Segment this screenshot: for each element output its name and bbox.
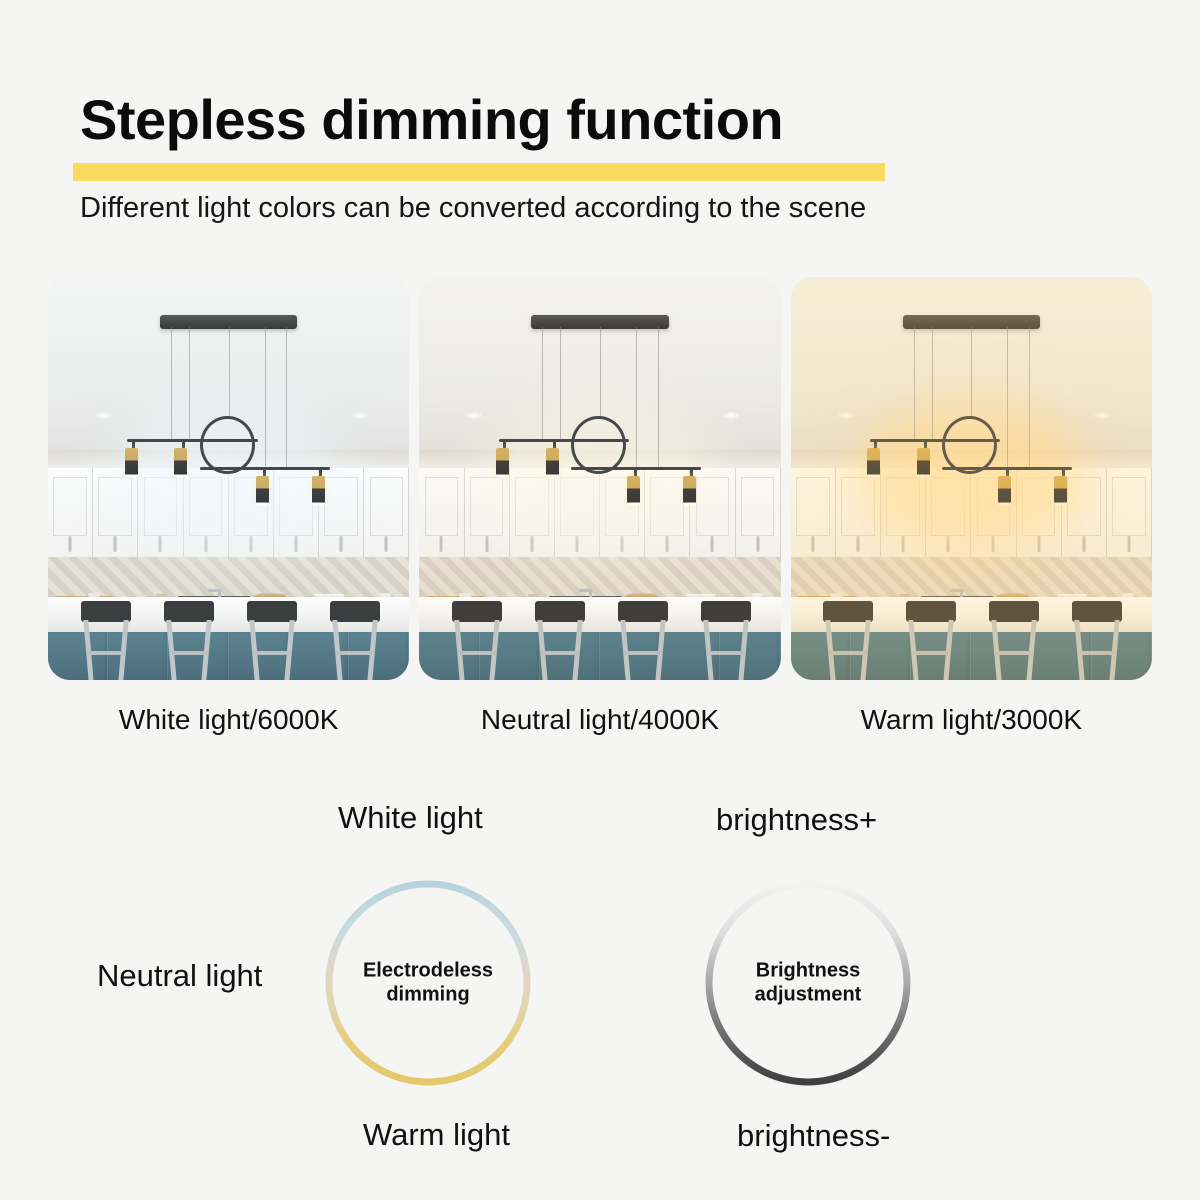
infographic-page: Stepless dimming function Different ligh…	[0, 0, 1200, 1200]
page-subtitle: Different light colors can be converted …	[80, 192, 866, 225]
ring-label-line2: dimming	[386, 983, 469, 1005]
photo-panel-white-light[interactable]	[48, 277, 409, 680]
photo-gallery	[48, 277, 1152, 680]
diagram-label-neutral-light: Neutral light	[97, 958, 262, 994]
diagram-label-warm-light: Warm light	[363, 1117, 510, 1153]
ring-label-line1: Electrodeless	[363, 959, 493, 981]
diagram-label-brightness-plus: brightness+	[716, 802, 877, 838]
brightness-ring-label: Brightness adjustment	[703, 959, 913, 1006]
caption-white-light: White light/6000K	[48, 700, 409, 744]
caption-warm-light: Warm light/3000K	[791, 700, 1152, 744]
ring-label-line2: adjustment	[755, 983, 862, 1005]
color-temperature-tint	[48, 277, 409, 680]
color-temperature-tint	[791, 277, 1152, 680]
ring-label-line1: Brightness	[756, 959, 860, 981]
title-underline-bar	[73, 163, 885, 181]
color-temperature-tint	[419, 277, 780, 680]
photo-panel-warm-light[interactable]	[791, 277, 1152, 680]
gallery-captions: White light/6000K Neutral light/4000K Wa…	[48, 700, 1152, 744]
feature-diagrams: White light Neutral light Warm light	[0, 780, 1200, 1190]
color-temperature-ring[interactable]: Electrodeless dimming	[323, 878, 533, 1088]
brightness-ring[interactable]: Brightness adjustment	[703, 878, 913, 1088]
photo-panel-neutral-light[interactable]	[419, 277, 780, 680]
page-title: Stepless dimming function	[80, 92, 783, 148]
color-temperature-ring-label: Electrodeless dimming	[323, 959, 533, 1006]
caption-neutral-light: Neutral light/4000K	[419, 700, 780, 744]
diagram-label-brightness-minus: brightness-	[737, 1118, 890, 1154]
diagram-label-white-light: White light	[338, 800, 483, 836]
